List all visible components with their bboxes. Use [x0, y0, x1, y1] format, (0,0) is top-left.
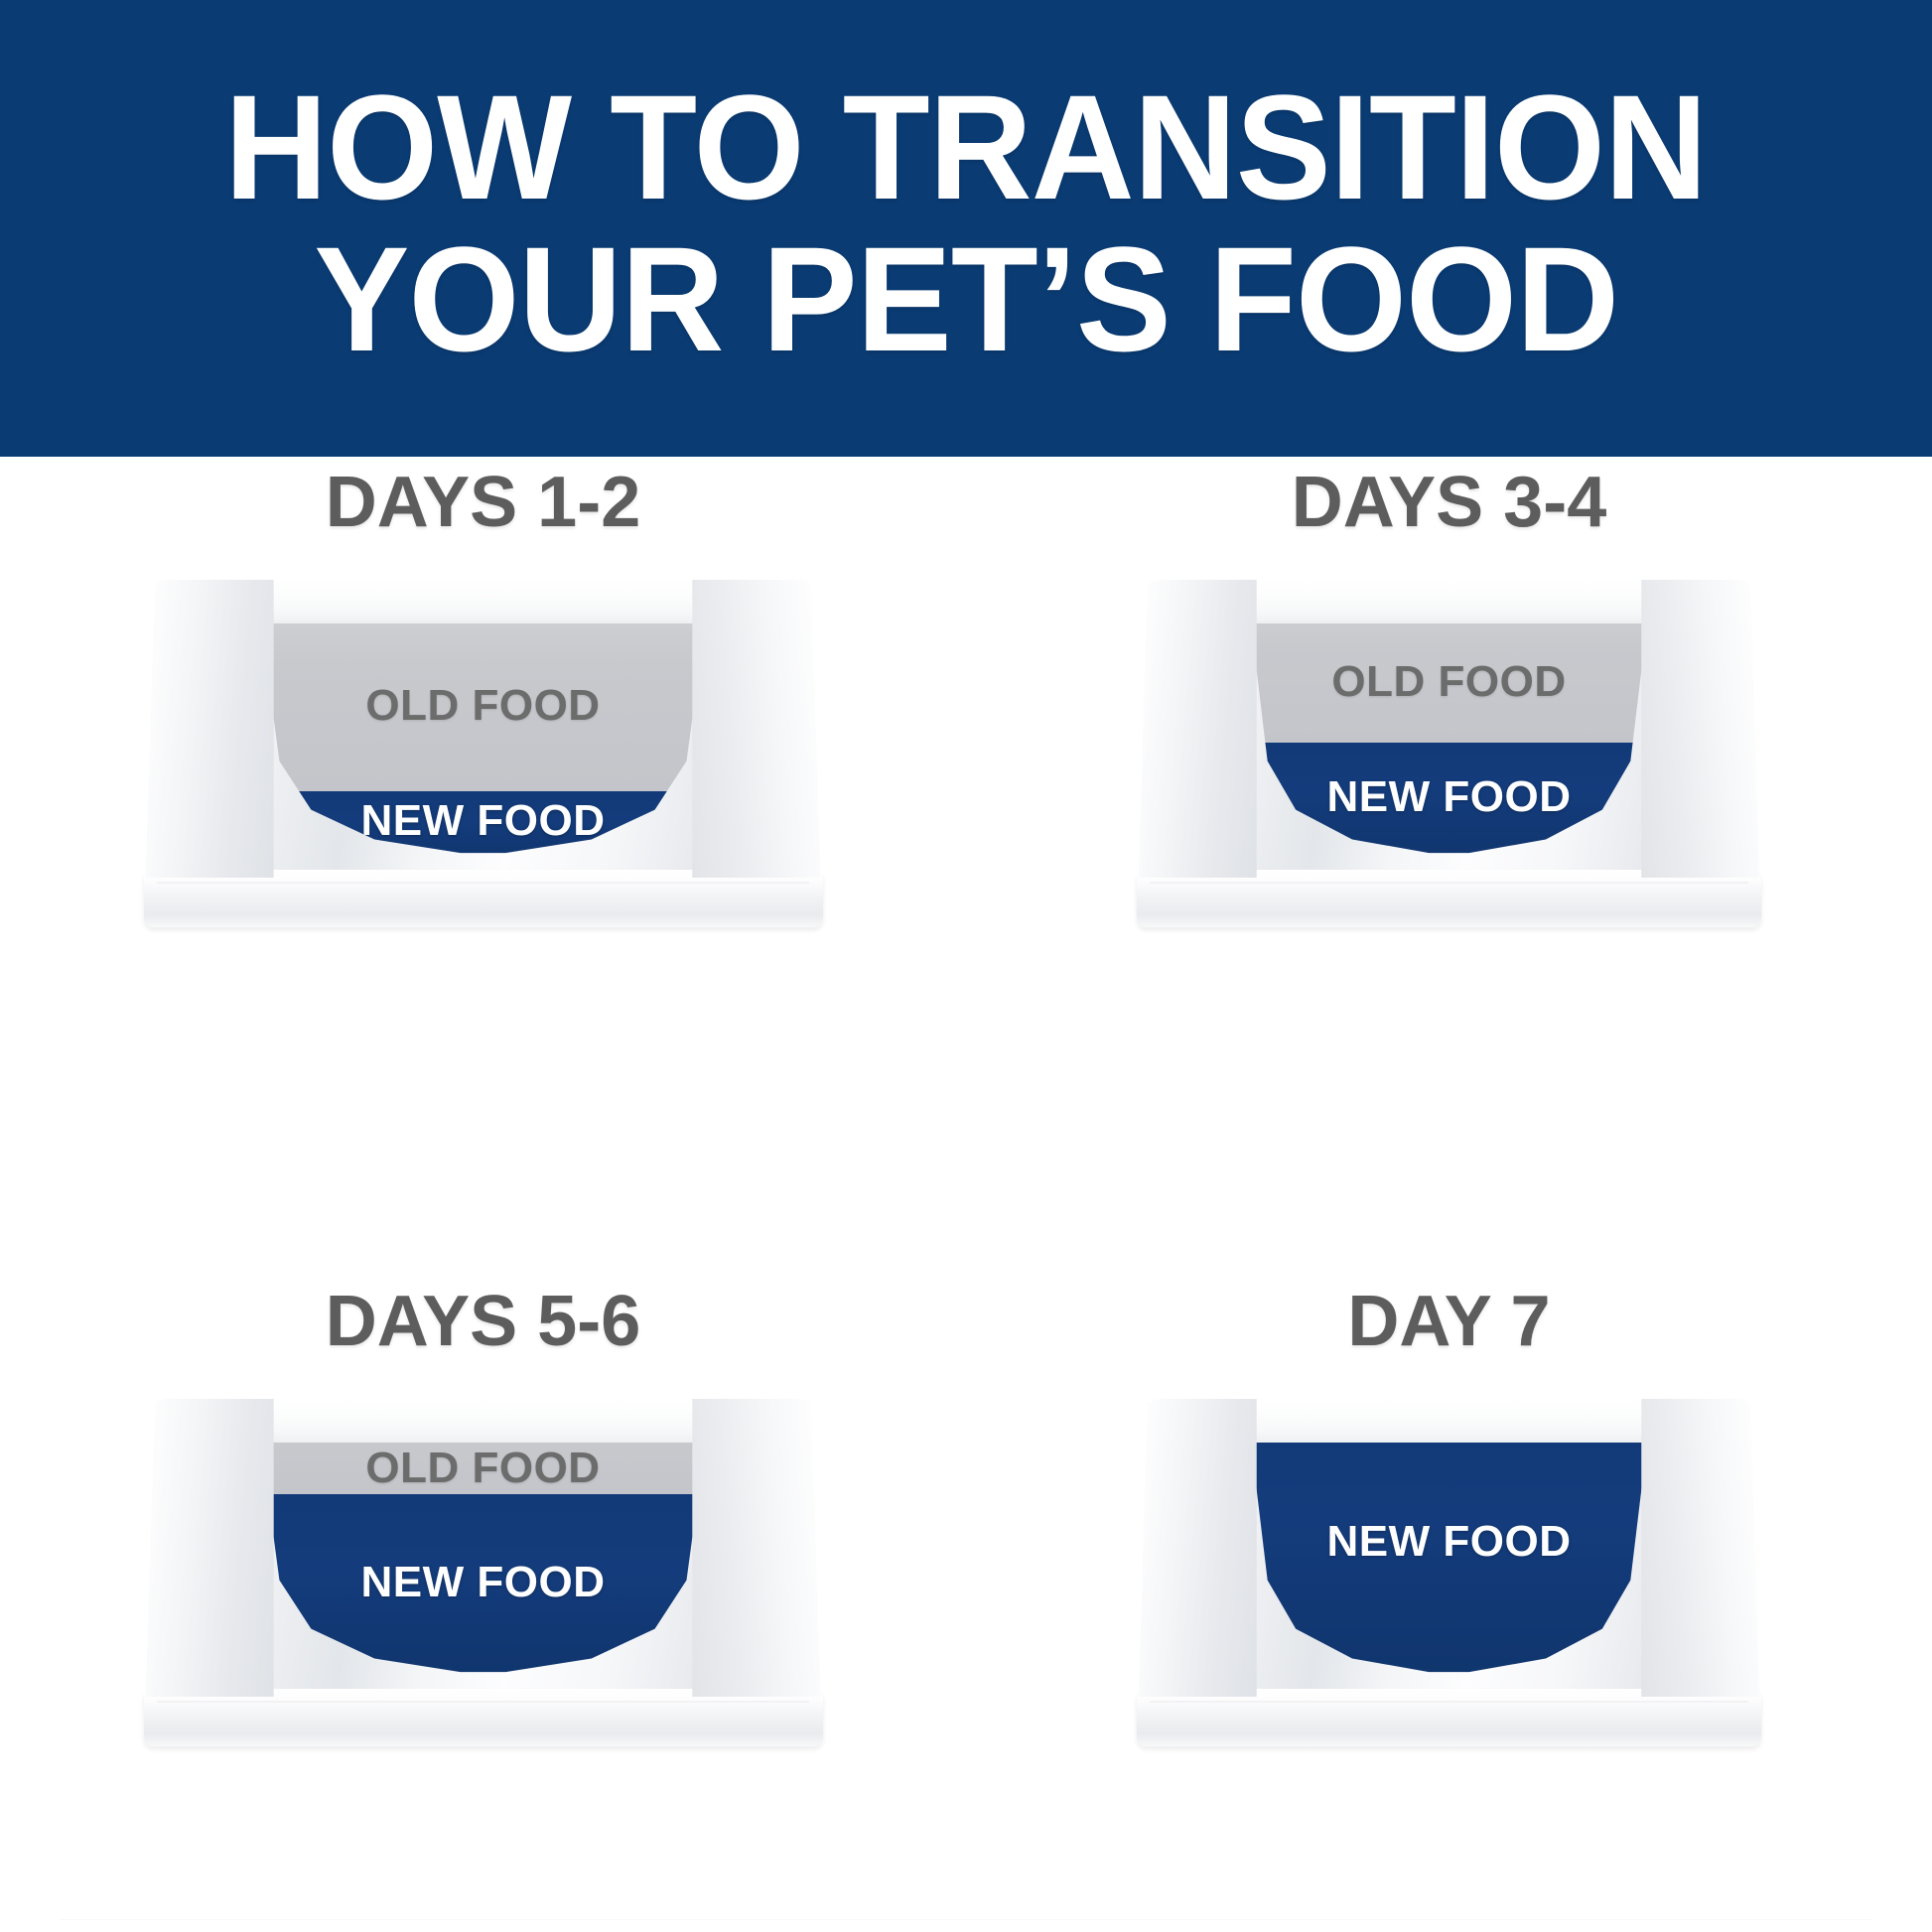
old-food-label: OLD FOOD: [257, 1447, 710, 1490]
old-food-label: OLD FOOD: [257, 684, 710, 728]
new-food-label: NEW FOOD: [1247, 775, 1650, 819]
bowl-inner-rim: [1247, 594, 1650, 623]
new-food-label: NEW FOOD: [257, 1561, 710, 1604]
bowl-base: [1137, 870, 1761, 927]
step-label-days-5-6: DAYS 5-6: [326, 1286, 641, 1357]
step-card-day-7: DAY 7 NEW FOOD: [966, 1194, 1932, 1932]
food-bowl-days-1-2: OLD FOOD NEW FOOD: [146, 580, 821, 927]
food-bowl-day-7: NEW FOOD: [1139, 1399, 1759, 1746]
step-label-days-1-2: DAYS 1-2: [326, 467, 641, 538]
step-label-days-3-4: DAYS 3-4: [1292, 467, 1607, 538]
bowl-base: [1137, 1689, 1761, 1746]
page-title-line-2: YOUR PET’S FOOD: [314, 223, 1618, 375]
food-bowl-days-5-6: OLD FOOD NEW FOOD: [146, 1399, 821, 1746]
bottom-divider: [60, 1919, 1872, 1920]
transition-steps-grid: DAYS 1-2 OLD FOOD NEW FOOD DAYS 3-4: [0, 457, 1932, 1932]
food-bowl-days-3-4: OLD FOOD NEW FOOD: [1139, 580, 1759, 927]
header-banner: HOW TO TRANSITION YOUR PET’S FOOD: [0, 0, 1932, 457]
page-title-line-1: HOW TO TRANSITION: [225, 71, 1708, 223]
step-label-day-7: DAY 7: [1347, 1286, 1550, 1357]
step-card-days-5-6: DAYS 5-6 OLD FOOD NEW FOOD: [0, 1194, 966, 1932]
new-food-label: NEW FOOD: [1247, 1520, 1650, 1564]
bowl-inner-rim: [257, 594, 710, 623]
bowl-inner-rim: [257, 1413, 710, 1443]
step-card-days-3-4: DAYS 3-4 OLD FOOD NEW FOOD: [966, 457, 1932, 1194]
bowl-base: [144, 1689, 823, 1746]
bowl-base: [144, 870, 823, 927]
step-card-days-1-2: DAYS 1-2 OLD FOOD NEW FOOD: [0, 457, 966, 1194]
bowl-inner-rim: [1247, 1413, 1650, 1443]
old-food-label: OLD FOOD: [1247, 660, 1650, 704]
